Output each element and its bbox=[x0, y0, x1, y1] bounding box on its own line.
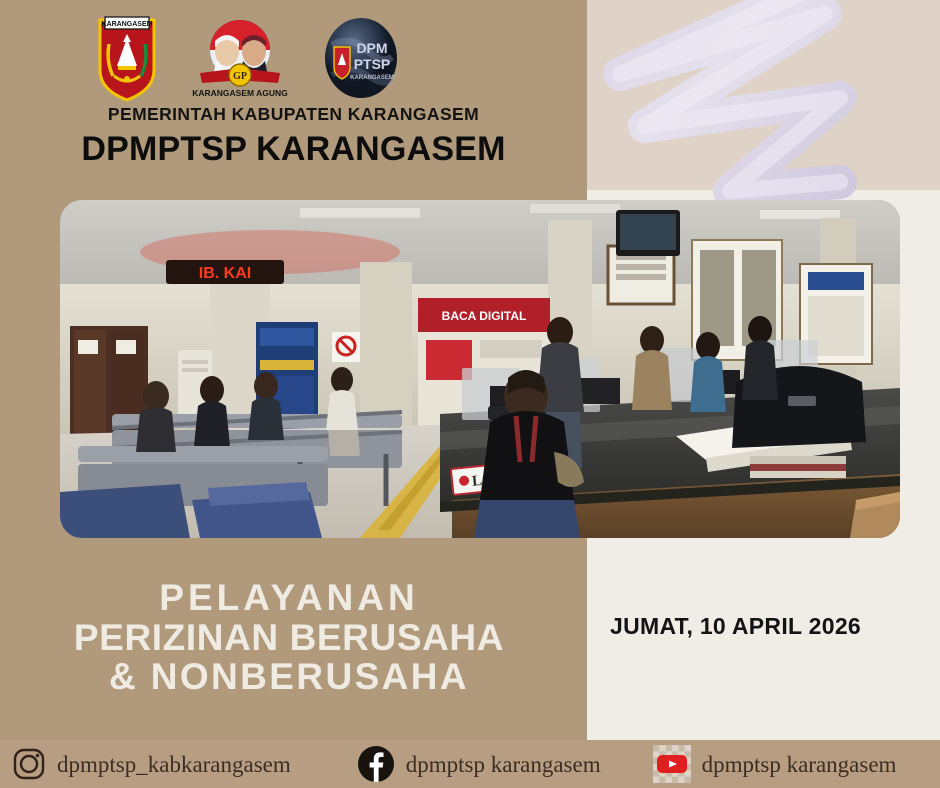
photo-illustration: IB. KAI BACA DIGITAL bbox=[60, 200, 900, 538]
page-title: DPMPTSP KARANGASEM bbox=[0, 130, 587, 169]
headline-line-1: PELAYANAN bbox=[0, 578, 578, 618]
svg-text:IB. KAI: IB. KAI bbox=[199, 265, 251, 282]
svg-text:PTSP: PTSP bbox=[354, 56, 391, 72]
svg-text:KARANGASEM AGUNG: KARANGASEM AGUNG bbox=[192, 88, 288, 98]
facebook-handle: dpmptsp karangasem bbox=[406, 753, 601, 776]
instagram-icon bbox=[12, 747, 46, 781]
social-youtube[interactable]: dpmptsp karangasem bbox=[653, 745, 897, 783]
youtube-icon bbox=[653, 745, 691, 783]
youtube-handle: dpmptsp karangasem bbox=[702, 753, 897, 776]
svg-text:BACA DIGITAL: BACA DIGITAL bbox=[442, 309, 527, 323]
event-date: JUMAT, 10 APRIL 2026 bbox=[610, 613, 930, 640]
social-links-row: dpmptsp_kabkarangasem dpmptsp karangasem bbox=[0, 740, 940, 788]
social-facebook[interactable]: dpmptsp karangasem bbox=[357, 745, 601, 783]
government-label: PEMERINTAH KABUPATEN KARANGASEM bbox=[0, 104, 587, 125]
svg-text:KARANGASEM: KARANGASEM bbox=[350, 75, 394, 81]
background-cream-top-panel bbox=[587, 0, 940, 190]
announcement-poster: KARANGASEM GP KARANGASEM AGUNG bbox=[0, 0, 940, 788]
social-instagram[interactable]: dpmptsp_kabkarangasem bbox=[12, 747, 291, 781]
dpmptsp-karangasem-logo-icon: DPM PTSP KARANGASEM bbox=[322, 17, 400, 99]
svg-text:KARANGASEM: KARANGASEM bbox=[102, 21, 153, 28]
instagram-handle: dpmptsp_kabkarangasem bbox=[57, 753, 291, 776]
karangasem-regency-crest-icon: KARANGASEM bbox=[96, 14, 158, 102]
facebook-icon bbox=[357, 745, 395, 783]
service-hall-photo: IB. KAI BACA DIGITAL bbox=[60, 200, 900, 538]
headline-line-2: PERIZINAN BERUSAHA bbox=[0, 618, 578, 658]
headline: PELAYANAN PERIZINAN BERUSAHA & NONBERUSA… bbox=[0, 578, 578, 697]
headline-line-3: & NONBERUSAHA bbox=[0, 657, 578, 697]
logo-row: KARANGASEM GP KARANGASEM AGUNG bbox=[96, 12, 476, 104]
svg-text:DPM: DPM bbox=[356, 40, 387, 56]
svg-text:GP: GP bbox=[233, 71, 247, 82]
karangasem-agung-emblem-icon: GP KARANGASEM AGUNG bbox=[192, 17, 288, 99]
